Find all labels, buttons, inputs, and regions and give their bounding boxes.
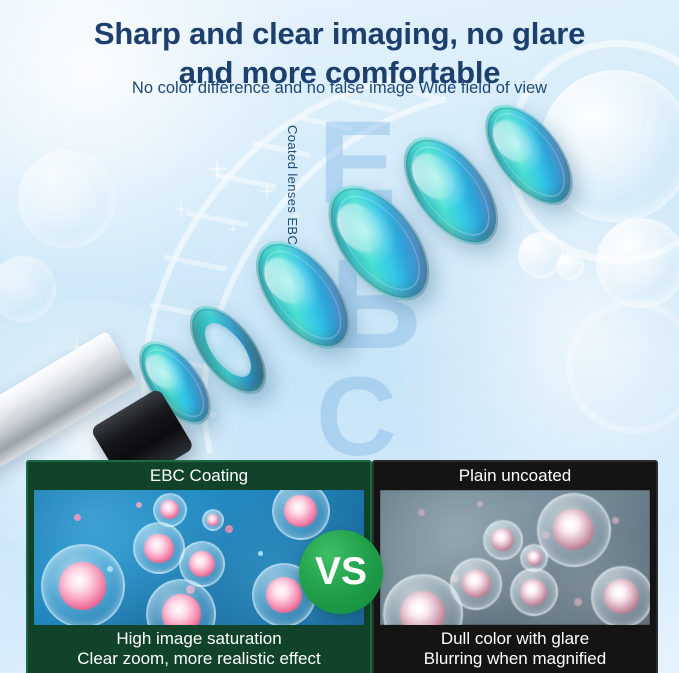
watermark-letter-c: C <box>316 372 397 462</box>
panel-header-uncoated: Plain uncoated <box>374 462 656 490</box>
panel-caption-uncoated: Dull color with glare Blurring when magn… <box>374 625 656 673</box>
decorative-bubble <box>18 150 116 248</box>
panel-caption-coated: High image saturation Clear zoom, more r… <box>28 625 370 673</box>
sparkle-icon <box>196 148 238 190</box>
panel-header-coated: EBC Coating <box>28 462 370 490</box>
comparison-panel-uncoated: Plain uncoated Dull color with glare Blu… <box>372 460 658 673</box>
vs-badge: VS <box>299 530 383 614</box>
page-title: Sharp and clear imaging, no glare and mo… <box>0 14 679 93</box>
decorative-bubble <box>556 252 584 280</box>
headline-line-1: Sharp and clear imaging, no glare <box>0 14 679 53</box>
decorative-bubble <box>0 256 56 322</box>
sparkle-icon <box>222 218 244 240</box>
headline-line-2: and more comfortable <box>0 53 679 92</box>
product-feature-poster: E B C Sharp and clear imaging, no glare … <box>0 0 679 673</box>
coated-lenses-label: Coated lenses EBC <box>285 125 300 245</box>
sparkle-icon <box>168 196 194 222</box>
cell-micrograph-dull <box>380 490 650 625</box>
micrograph-uncoated <box>380 490 650 625</box>
decorative-ring <box>566 300 679 434</box>
sparkle-icon <box>252 176 282 206</box>
decorative-bubble <box>596 218 679 308</box>
decorative-bubble <box>518 232 564 278</box>
